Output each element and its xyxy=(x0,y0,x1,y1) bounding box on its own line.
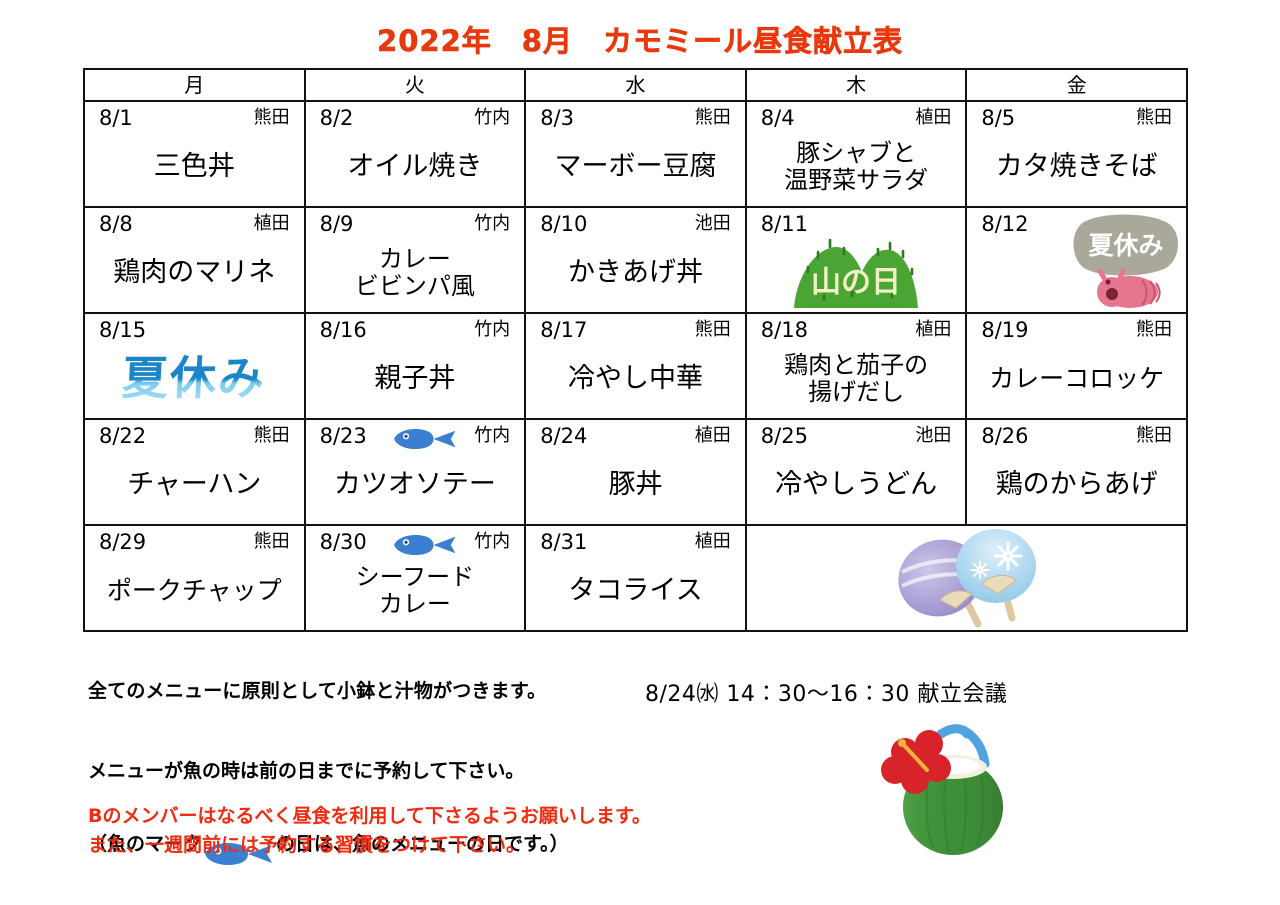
mountain-day-icon: 山の日 xyxy=(747,232,966,312)
cell-header: 8/1熊田 xyxy=(85,102,304,130)
note-menu-meeting: 8/24㈬ 14：30〜16：30 献立会議 xyxy=(645,676,1007,708)
cell-menu-text: 鶏肉のマリネ xyxy=(85,236,304,310)
cell-header: 8/22熊田 xyxy=(85,420,304,448)
calendar-cell-8-19: 8/19熊田カレーコロッケ xyxy=(966,313,1187,419)
cell-menu-text: 豚シャブと 温野菜サラダ xyxy=(747,130,966,204)
calendar-week-row: 8/1熊田三色丼8/2竹内オイル焼き8/3熊田マーボー豆腐8/4植田豚シャブと … xyxy=(84,101,1187,207)
calendar-body: 8/1熊田三色丼8/2竹内オイル焼き8/3熊田マーボー豆腐8/4植田豚シャブと … xyxy=(84,101,1187,631)
cell-menu-text: カレー ビビンパ風 xyxy=(306,236,525,310)
cell-menu-text: 冷やしうどん xyxy=(747,448,966,522)
cell-header: 8/25池田 xyxy=(747,420,966,448)
cell-menu-text: カレーコロッケ xyxy=(967,342,1186,416)
cell-staff-name: 熊田 xyxy=(254,528,290,554)
cell-header: 8/4植田 xyxy=(747,102,966,130)
calendar-week-row: 8/29熊田ポークチャップ8/30竹内シーフード カレー8/31植田タコライス xyxy=(84,525,1187,631)
calendar-cell-8-11: 8/11山の日 xyxy=(746,207,967,313)
weekday-header-thu: 木 xyxy=(746,69,967,101)
cell-staff-name: 熊田 xyxy=(695,104,731,130)
cell-date: 8/4 xyxy=(761,104,795,130)
cell-staff-name: 熊田 xyxy=(1136,104,1172,130)
cell-staff-name: 熊田 xyxy=(254,104,290,130)
calendar-cell-8-24: 8/24植田豚丼 xyxy=(525,419,746,525)
cell-header: 8/26熊田 xyxy=(967,420,1186,448)
cell-header: 8/17熊田 xyxy=(526,314,745,342)
calendar-cell-8-25: 8/25池田冷やしうどん xyxy=(746,419,967,525)
cell-header: 8/31植田 xyxy=(526,526,745,554)
svg-text:山の日: 山の日 xyxy=(811,265,901,300)
cell-date: 8/22 xyxy=(99,422,146,448)
cell-date: 8/17 xyxy=(540,316,587,342)
cell-header: 8/5熊田 xyxy=(967,102,1186,130)
cell-staff-name: 竹内 xyxy=(474,422,510,448)
cell-date: 8/25 xyxy=(761,422,808,448)
cell-date: 8/18 xyxy=(761,316,808,342)
calendar-cell-8-5: 8/5熊田カタ焼きそば xyxy=(966,101,1187,207)
cell-header: 8/29熊田 xyxy=(85,526,304,554)
uchiwa-fans-icon xyxy=(747,526,1186,630)
cell-date: 8/23 xyxy=(320,422,367,448)
cell-staff-name: 竹内 xyxy=(474,104,510,130)
weekday-header-mon: 月 xyxy=(84,69,305,101)
calendar-cell-8-23: 8/23竹内カツオソテー xyxy=(305,419,526,525)
cell-menu-text: 鶏のからあげ xyxy=(967,448,1186,522)
cell-menu-text: チャーハン xyxy=(85,448,304,522)
summer-break-label: 夏休み xyxy=(121,355,267,401)
cell-date: 8/8 xyxy=(99,210,133,236)
cell-header: 8/3熊田 xyxy=(526,102,745,130)
cell-menu-text: カツオソテー xyxy=(306,448,525,522)
cell-staff-name: 植田 xyxy=(695,422,731,448)
cell-menu-text: シーフード カレー xyxy=(306,554,525,628)
cell-staff-name: 竹内 xyxy=(474,210,510,236)
cell-header: 8/24植田 xyxy=(526,420,745,448)
calendar-week-row: 8/8植田鶏肉のマリネ8/9竹内カレー ビビンパ風8/10池田かきあげ丼8/11… xyxy=(84,207,1187,313)
cell-menu-text: 親子丼 xyxy=(306,342,525,416)
calendar-week-row: 8/22熊田チャーハン8/23竹内カツオソテー8/24植田豚丼8/25池田冷やし… xyxy=(84,419,1187,525)
cell-header: 8/10池田 xyxy=(526,208,745,236)
calendar-cell-8-18: 8/18植田鶏肉と茄子の 揚げだし xyxy=(746,313,967,419)
calendar-cell-8-12: 8/12夏休み xyxy=(966,207,1187,313)
calendar-cell-decoration xyxy=(746,525,1187,631)
cell-staff-name: 植田 xyxy=(915,316,951,342)
cell-header: 8/9竹内 xyxy=(306,208,525,236)
cell-date: 8/3 xyxy=(540,104,574,130)
calendar-cell-8-31: 8/31植田タコライス xyxy=(525,525,746,631)
cell-menu-text: タコライス xyxy=(526,554,745,628)
cell-menu-text: カタ焼きそば xyxy=(967,130,1186,204)
cell-staff-name: 植田 xyxy=(915,104,951,130)
cell-staff-name: 竹内 xyxy=(474,528,510,554)
cell-date: 8/1 xyxy=(99,104,133,130)
cell-menu-text: 豚丼 xyxy=(526,448,745,522)
cell-staff-name: 竹内 xyxy=(474,316,510,342)
cell-date: 8/30 xyxy=(320,528,367,554)
weekday-header-row: 月 火 水 木 金 xyxy=(84,69,1187,101)
cell-date: 8/5 xyxy=(981,104,1015,130)
cell-menu-text: マーボー豆腐 xyxy=(526,130,745,204)
page-title: 2022年 8月 カモミール昼食献立表 xyxy=(0,18,1280,60)
cell-staff-name: 熊田 xyxy=(695,316,731,342)
calendar-cell-8-4: 8/4植田豚シャブと 温野菜サラダ xyxy=(746,101,967,207)
cell-date: 8/16 xyxy=(320,316,367,342)
cell-menu-text: オイル焼き xyxy=(306,130,525,204)
calendar-cell-8-16: 8/16竹内親子丼 xyxy=(305,313,526,419)
note-fish-line1: メニューが魚の時は前の日までに予約して下さい。 xyxy=(88,757,569,786)
calendar-cell-8-29: 8/29熊田ポークチャップ xyxy=(84,525,305,631)
cell-menu-text: かきあげ丼 xyxy=(526,236,745,310)
summer-break-blue-text: 夏休み xyxy=(85,338,304,418)
cell-staff-name: 植田 xyxy=(254,210,290,236)
cell-staff-name: 池田 xyxy=(695,210,731,236)
note-red-notice: Bのメンバーはなるべく昼食を利用して下さるようお願いします。 また、一週間前には… xyxy=(88,802,651,861)
cell-staff-name: 植田 xyxy=(695,528,731,554)
weekday-header-fri: 金 xyxy=(966,69,1187,101)
cell-date: 8/10 xyxy=(540,210,587,236)
cell-staff-name: 熊田 xyxy=(1136,422,1172,448)
calendar-cell-8-8: 8/8植田鶏肉のマリネ xyxy=(84,207,305,313)
coconut-drink-icon xyxy=(875,722,1025,857)
cell-staff-name: 熊田 xyxy=(1136,316,1172,342)
calendar-cell-8-1: 8/1熊田三色丼 xyxy=(84,101,305,207)
cell-date: 8/24 xyxy=(540,422,587,448)
calendar-cell-8-26: 8/26熊田鶏のからあげ xyxy=(966,419,1187,525)
svg-text:夏休み: 夏休み xyxy=(1088,231,1163,260)
cell-header: 8/19熊田 xyxy=(967,314,1186,342)
cell-menu-text: ポークチャップ xyxy=(85,554,304,628)
cell-header: 8/8植田 xyxy=(85,208,304,236)
cell-date: 8/9 xyxy=(320,210,354,236)
summer-break-bubble-icon: 夏休み xyxy=(967,208,1186,312)
cell-menu-text: 冷やし中華 xyxy=(526,342,745,416)
cell-menu-text: 鶏肉と茄子の 揚げだし xyxy=(747,342,966,416)
calendar-cell-8-15: 8/15夏休み xyxy=(84,313,305,419)
cell-date: 8/26 xyxy=(981,422,1028,448)
calendar-week-row: 8/15夏休み8/16竹内親子丼8/17熊田冷やし中華8/18植田鶏肉と茄子の … xyxy=(84,313,1187,419)
cell-date: 8/19 xyxy=(981,316,1028,342)
calendar-cell-8-22: 8/22熊田チャーハン xyxy=(84,419,305,525)
calendar-cell-8-9: 8/9竹内カレー ビビンパ風 xyxy=(305,207,526,313)
cell-date: 8/2 xyxy=(320,104,354,130)
menu-calendar-table: 月 火 水 木 金 8/1熊田三色丼8/2竹内オイル焼き8/3熊田マーボー豆腐8… xyxy=(83,68,1188,632)
cell-staff-name: 池田 xyxy=(915,422,951,448)
note-side-dish: 全てのメニューに原則として小鉢と汁物がつきます。 xyxy=(88,676,546,703)
cell-header: 8/18植田 xyxy=(747,314,966,342)
cell-header: 8/16竹内 xyxy=(306,314,525,342)
cell-date: 8/29 xyxy=(99,528,146,554)
weekday-header-wed: 水 xyxy=(525,69,746,101)
calendar-cell-8-17: 8/17熊田冷やし中華 xyxy=(525,313,746,419)
cell-date: 8/31 xyxy=(540,528,587,554)
cell-menu-text: 三色丼 xyxy=(85,130,304,204)
cell-header: 8/2竹内 xyxy=(306,102,525,130)
calendar-cell-8-3: 8/3熊田マーボー豆腐 xyxy=(525,101,746,207)
weekday-header-tue: 火 xyxy=(305,69,526,101)
calendar-cell-8-10: 8/10池田かきあげ丼 xyxy=(525,207,746,313)
calendar-cell-8-2: 8/2竹内オイル焼き xyxy=(305,101,526,207)
cell-staff-name: 熊田 xyxy=(254,422,290,448)
calendar-cell-8-30: 8/30竹内シーフード カレー xyxy=(305,525,526,631)
